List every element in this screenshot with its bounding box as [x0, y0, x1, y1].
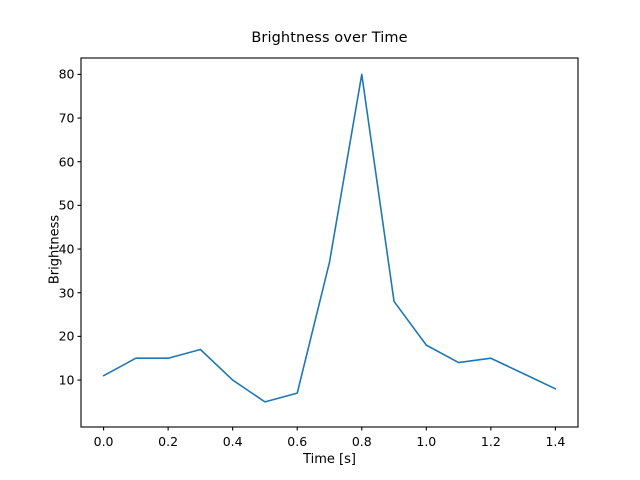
- x-tick-label: 0.4: [223, 434, 243, 449]
- x-tick-label: 0.0: [94, 434, 114, 449]
- axis-ticks: [78, 74, 556, 430]
- y-tick-label: 60: [59, 154, 75, 169]
- data-line-brightness: [104, 74, 556, 402]
- figure: Brightness over Time 1020304050607080 0.…: [0, 0, 640, 480]
- x-tick-label: 1.4: [545, 434, 565, 449]
- x-axis-label: Time [s]: [81, 452, 578, 467]
- y-tick-label: 80: [59, 67, 75, 82]
- y-tick-label: 10: [59, 373, 75, 388]
- x-tick-label: 0.2: [158, 434, 178, 449]
- y-tick-label: 20: [59, 329, 75, 344]
- x-tick-label: 1.0: [416, 434, 436, 449]
- axes-spines: [81, 58, 578, 427]
- x-tick-label: 0.6: [287, 434, 307, 449]
- y-tick-label: 70: [59, 111, 75, 126]
- x-tick-label: 0.8: [352, 434, 372, 449]
- y-axis-label: Brightness: [48, 190, 63, 310]
- x-tick-label: 1.2: [481, 434, 501, 449]
- plot-area: [0, 0, 640, 480]
